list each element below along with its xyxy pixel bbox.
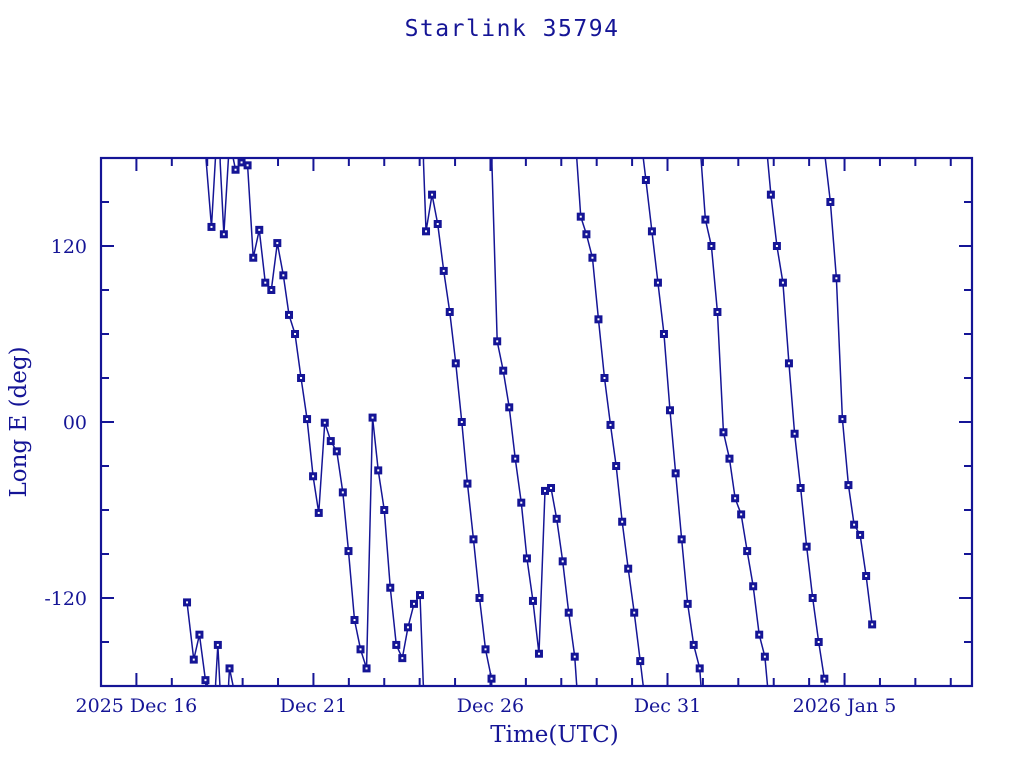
data-point-marker-center — [639, 660, 641, 662]
data-point-marker-center — [491, 678, 493, 680]
data-point-marker-center — [318, 512, 320, 514]
data-point-marker-center — [585, 233, 587, 235]
data-point-marker-center — [413, 603, 415, 605]
data-point-marker-center — [241, 161, 243, 163]
data-point-marker-center — [419, 594, 421, 596]
data-point-marker-center — [603, 377, 605, 379]
data-point-marker-center — [633, 612, 635, 614]
data-point-marker-center — [794, 433, 796, 435]
data-point-marker-center — [520, 502, 522, 504]
data-point-marker-center — [312, 475, 314, 477]
data-point-marker-center — [621, 521, 623, 523]
data-point-marker-center — [270, 289, 272, 291]
x-axis-title: Time(UTC) — [490, 722, 618, 748]
data-point-marker-center — [818, 641, 820, 643]
chart-page: Starlink 35794 -120001202025 Dec 16Dec 2… — [0, 0, 1024, 768]
data-point-marker-center — [812, 597, 814, 599]
data-point-marker-center — [247, 164, 249, 166]
data-point-marker-center — [264, 282, 266, 284]
data-point-marker-center — [835, 277, 837, 279]
series-line — [216, 645, 221, 686]
data-point-marker-center — [538, 653, 540, 655]
data-point-marker-center — [699, 667, 701, 669]
data-point-marker-center — [360, 648, 362, 650]
data-point-marker-center — [330, 440, 332, 442]
data-point-marker-center — [461, 421, 463, 423]
data-point-marker-center — [574, 656, 576, 658]
data-point-marker-center — [336, 450, 338, 452]
data-point-marker-center — [198, 634, 200, 636]
data-point-marker-center — [556, 518, 558, 520]
data-point-marker-center — [841, 418, 843, 420]
series-line — [492, 158, 577, 686]
data-point-marker-center — [734, 497, 736, 499]
x-tick-label: Dec 26 — [457, 695, 524, 717]
data-point-marker-center — [449, 311, 451, 313]
data-point-marker-center — [788, 362, 790, 364]
data-point-marker-center — [627, 568, 629, 570]
data-point-marker-center — [354, 619, 356, 621]
data-point-marker-center — [229, 667, 231, 669]
data-point-marker-center — [282, 274, 284, 276]
data-point-marker-center — [372, 417, 374, 419]
data-point-marker-center — [223, 233, 225, 235]
data-markers — [184, 159, 876, 684]
data-point-marker-center — [443, 270, 445, 272]
data-point-marker-center — [389, 587, 391, 589]
x-tick-label: 2026 Jan 5 — [793, 695, 897, 717]
data-point-marker-center — [847, 484, 849, 486]
data-point-marker-center — [865, 575, 867, 577]
x-tick-label: Dec 31 — [634, 695, 701, 717]
data-point-marker-center — [496, 340, 498, 342]
data-point-marker-center — [800, 487, 802, 489]
data-point-marker-center — [610, 424, 612, 426]
data-point-marker-center — [235, 169, 237, 171]
data-point-marker-center — [401, 657, 403, 659]
data-point-marker-center — [300, 377, 302, 379]
data-point-marker-center — [663, 333, 665, 335]
data-point-marker-center — [562, 560, 564, 562]
data-point-marker-center — [597, 318, 599, 320]
data-point-marker-center — [764, 656, 766, 658]
data-point-marker-center — [288, 314, 290, 316]
data-point-marker-center — [466, 483, 468, 485]
data-point-marker-center — [204, 679, 206, 681]
data-point-marker-center — [657, 282, 659, 284]
data-point-marker-center — [871, 623, 873, 625]
y-axis-title: Long E (deg) — [6, 346, 32, 497]
data-point-marker-center — [217, 644, 219, 646]
data-point-marker-center — [514, 458, 516, 460]
data-point-marker-center — [728, 458, 730, 460]
series-line — [825, 158, 872, 624]
x-tick-label: Dec 21 — [280, 695, 347, 717]
data-point-marker-center — [746, 550, 748, 552]
data-point-marker-center — [210, 226, 212, 228]
data-point-marker-center — [383, 509, 385, 511]
data-series — [187, 158, 872, 686]
data-point-marker-center — [704, 219, 706, 221]
y-tick-label: -120 — [44, 588, 87, 610]
data-point-marker-center — [722, 431, 724, 433]
data-point-marker-center — [758, 634, 760, 636]
data-point-marker-center — [669, 409, 671, 411]
data-point-marker-center — [532, 600, 534, 602]
data-point-marker-center — [455, 362, 457, 364]
data-point-marker-center — [377, 469, 379, 471]
data-point-marker-center — [615, 465, 617, 467]
data-point-marker-center — [710, 245, 712, 247]
data-point-marker-center — [681, 538, 683, 540]
data-point-marker-center — [479, 597, 481, 599]
longitude-time-plot: -120001202025 Dec 16Dec 21Dec 26Dec 3120… — [0, 0, 1024, 768]
data-point-marker-center — [193, 659, 195, 661]
data-point-marker-center — [526, 557, 528, 559]
data-point-marker-center — [294, 333, 296, 335]
data-point-marker-center — [306, 418, 308, 420]
series-line — [768, 158, 826, 686]
data-point-marker-center — [740, 513, 742, 515]
data-point-marker-center — [853, 524, 855, 526]
data-point-marker-center — [276, 242, 278, 244]
data-point-marker-center — [693, 644, 695, 646]
y-tick-label: 120 — [51, 236, 87, 258]
data-point-marker-center — [716, 311, 718, 313]
data-point-marker-center — [366, 667, 368, 669]
data-point-marker-center — [829, 201, 831, 203]
data-point-marker-center — [776, 245, 778, 247]
data-point-marker-center — [324, 422, 326, 424]
data-point-marker-center — [407, 626, 409, 628]
series-line — [701, 158, 768, 686]
data-point-marker-center — [258, 229, 260, 231]
data-point-marker-center — [502, 370, 504, 372]
data-point-marker-center — [568, 612, 570, 614]
data-point-marker-center — [580, 216, 582, 218]
data-point-marker-center — [651, 230, 653, 232]
series-line — [187, 602, 206, 686]
data-point-marker-center — [485, 648, 487, 650]
data-point-marker-center — [437, 223, 439, 225]
data-point-marker-center — [550, 487, 552, 489]
data-point-marker-center — [186, 601, 188, 603]
data-point-marker-center — [544, 490, 546, 492]
x-tick-label: 2025 Dec 16 — [76, 695, 198, 717]
data-point-marker-center — [252, 257, 254, 259]
data-point-marker-center — [342, 491, 344, 493]
y-tick-label: 00 — [63, 412, 87, 434]
data-point-marker-center — [859, 534, 861, 536]
data-point-marker-center — [782, 282, 784, 284]
data-point-marker-center — [431, 194, 433, 196]
data-point-marker-center — [823, 678, 825, 680]
data-point-marker-center — [687, 603, 689, 605]
data-point-marker-center — [347, 550, 349, 552]
data-point-marker-center — [770, 194, 772, 196]
data-point-marker-center — [472, 538, 474, 540]
data-point-marker-center — [806, 546, 808, 548]
data-point-marker-center — [395, 644, 397, 646]
series-line — [206, 158, 216, 227]
series-line — [220, 158, 228, 234]
data-point-marker-center — [508, 406, 510, 408]
data-point-marker-center — [675, 472, 677, 474]
data-point-marker-center — [752, 585, 754, 587]
data-point-marker-center — [425, 230, 427, 232]
series-line — [423, 158, 491, 686]
data-point-marker-center — [645, 179, 647, 181]
data-point-marker-center — [591, 257, 593, 259]
series-line — [643, 158, 701, 686]
